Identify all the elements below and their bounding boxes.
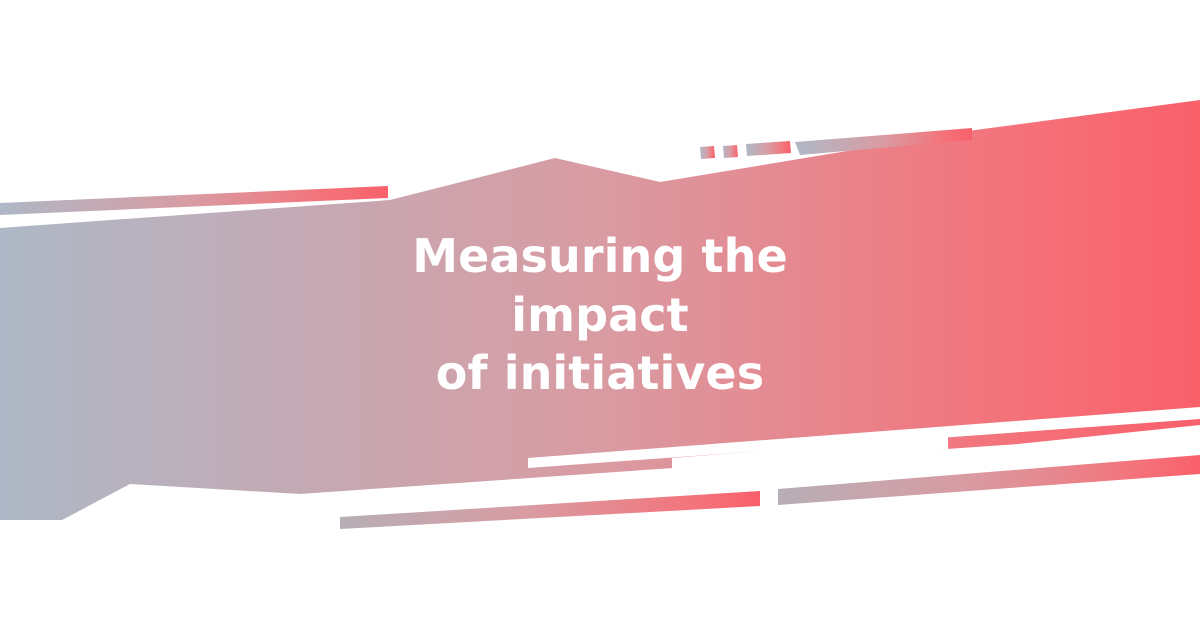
dash-segment-1 xyxy=(700,146,715,159)
accent-stripe-lower-right xyxy=(778,455,1200,505)
banner-artwork xyxy=(0,0,1200,630)
banner-graphic: Measuring the impact of initiatives xyxy=(0,0,1200,630)
accent-stripe-lower-left xyxy=(340,491,760,529)
dash-segment-3 xyxy=(746,141,791,156)
dash-segment-2 xyxy=(723,145,738,158)
